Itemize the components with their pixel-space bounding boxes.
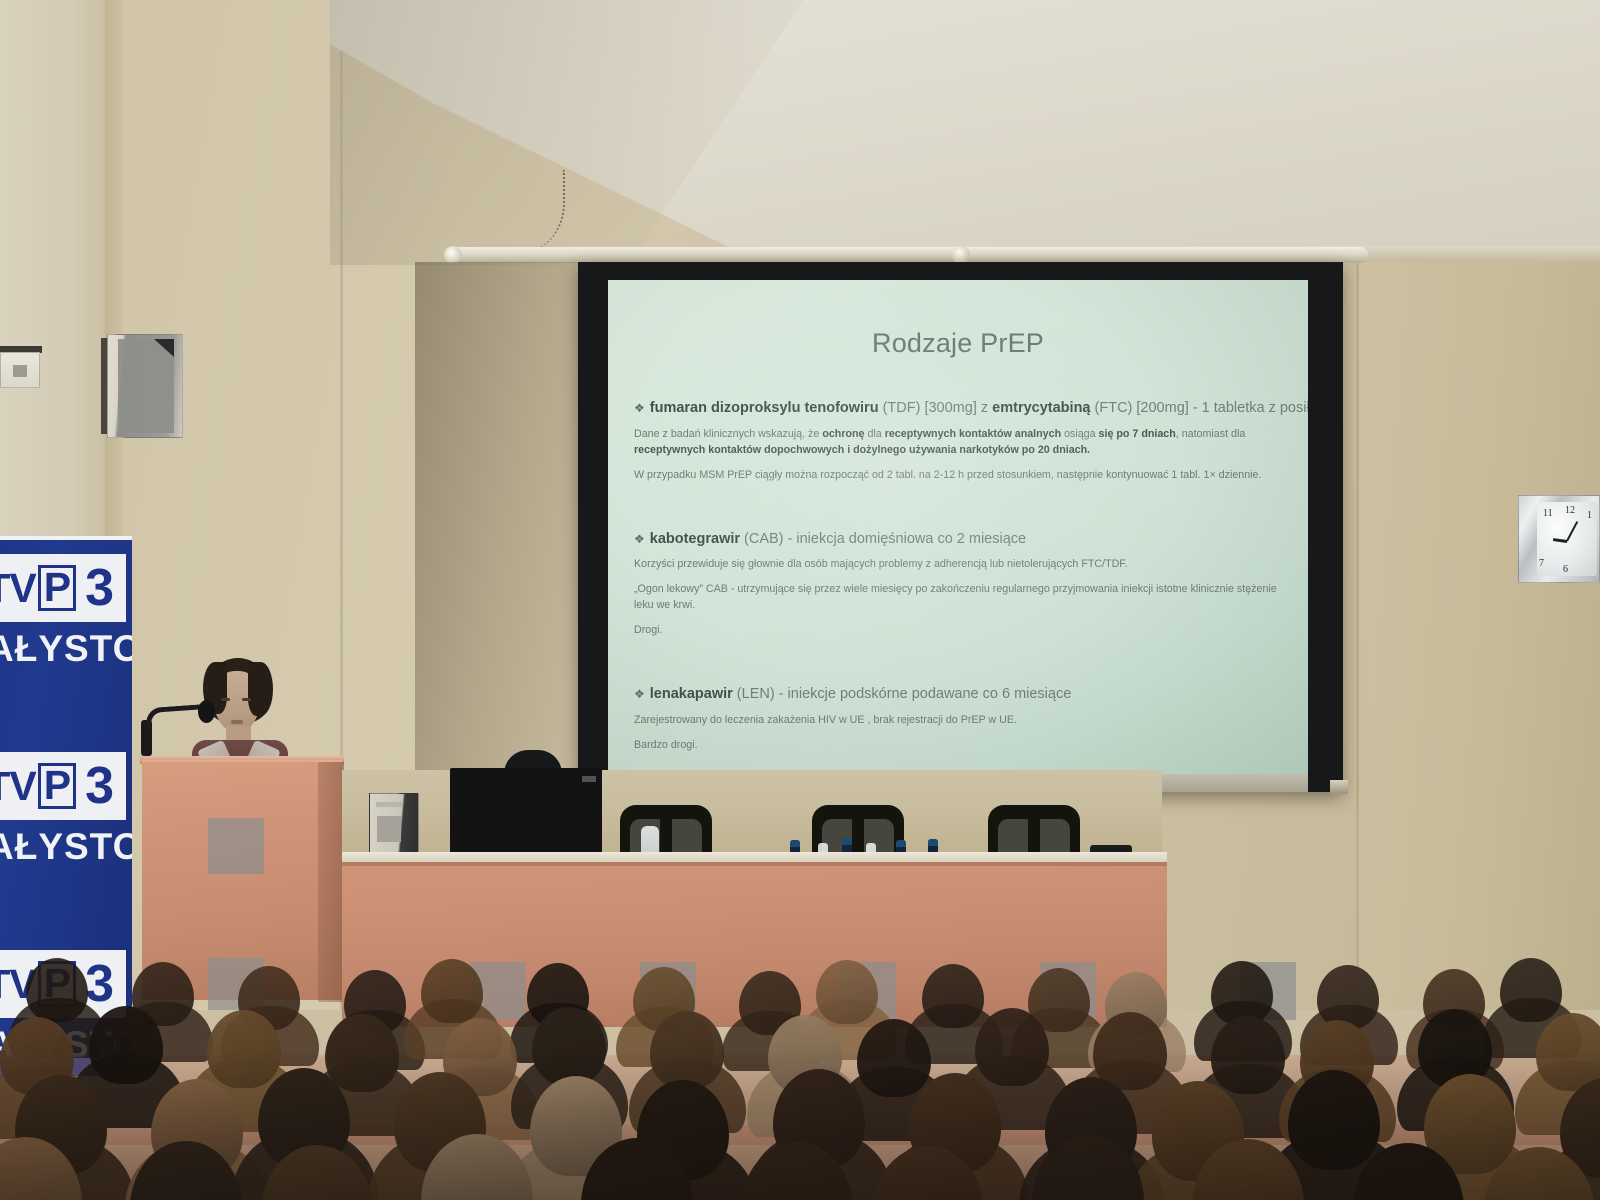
clock-number-11: 11 <box>1543 508 1553 519</box>
lecture-hall-scene: 11 12 1 7 6 Rodzaje PrEP ❖fumaran dizopr… <box>0 0 1600 1200</box>
audience-person-head <box>325 1014 399 1092</box>
audience-person-head <box>816 960 878 1024</box>
bullet-heading-segment: (CAB) - iniekcja domięśniowa co 2 miesią… <box>740 531 1026 547</box>
body-text-segment: Bardzo drogi. <box>634 739 698 751</box>
body-text-segment: W przypadku MSM PrEP ciągły można rozpoc… <box>634 469 1261 481</box>
body-text-segment: Korzyści przewiduje się głownie dla osób… <box>634 558 1128 570</box>
tvp-logo-box-2: TVP 3 <box>0 752 126 820</box>
body-text-segment: Dane z badań klinicznych wskazują, że <box>634 428 822 440</box>
bullet-diamond-icon: ❖ <box>634 401 645 415</box>
bullet-heading-segment: (LEN) - iniekcje podskórne podawane co 6… <box>733 686 1072 702</box>
presenter-eye-left <box>221 698 230 701</box>
audience-person-head <box>421 959 483 1023</box>
body-text-segment: Drogi. <box>634 624 663 636</box>
microphone-head <box>198 700 215 723</box>
bullet-heading-segment: emtrycytabiną <box>992 400 1090 416</box>
body-text-segment: , natomiast dla <box>1176 428 1246 440</box>
clock-face: 11 12 1 7 6 <box>1537 502 1597 576</box>
slide-bullet-heading-1: ❖fumaran dizoproksylu tenofowiru (TDF) [… <box>634 399 1282 419</box>
tvp-logo-number-2: 3 <box>85 763 114 810</box>
body-text-segment: się po 7 dniach <box>1099 428 1176 440</box>
slide-bullet-1: ❖fumaran dizoproksylu tenofowiru (TDF) [… <box>634 399 1282 514</box>
audience-person-head <box>26 958 88 1022</box>
audience-person-head <box>532 1007 606 1085</box>
slide-body-paragraph-2-1: Korzyści przewiduje się głownie dla osób… <box>634 556 1282 572</box>
projected-slide-surface: Rodzaje PrEP ❖fumaran dizoproksylu tenof… <box>608 280 1308 774</box>
slide-bullet-list: ❖fumaran dizoproksylu tenofowiru (TDF) [… <box>634 399 1282 774</box>
audience-person-head <box>1288 1070 1380 1170</box>
presenter-eye-right <box>242 698 251 701</box>
body-text-segment: receptywnych kontaktów dopochwowych i do… <box>634 444 1090 456</box>
tvp-logo-text-1: TVP <box>0 565 76 612</box>
tvp-logo-tv-1: TV <box>0 565 36 612</box>
tvp-logo-tv-2: TV <box>0 763 36 810</box>
presenter-hair-right <box>248 662 273 716</box>
body-text-segment: dla <box>865 428 885 440</box>
audience-person-head <box>975 1008 1049 1086</box>
audience-person-head <box>650 1011 724 1089</box>
body-text-segment: ochronę <box>822 428 864 440</box>
clock-hour-hand <box>1553 538 1567 543</box>
wall-clock: 11 12 1 7 6 <box>1518 495 1600 583</box>
clock-number-6: 6 <box>1563 564 1568 575</box>
bullet-diamond-icon: ❖ <box>634 687 645 701</box>
slide-bullet-heading-2: ❖kabotegrawir (CAB) - iniekcja domięśnio… <box>634 530 1282 550</box>
bullet-heading-segment: fumaran dizoproksylu tenofowiru <box>650 400 879 416</box>
slide-title: Rodzaje PrEP <box>634 328 1282 359</box>
screen-roller-casing <box>448 247 1368 263</box>
tvp-logo-p-2: P <box>38 763 76 808</box>
bullet-diamond-icon: ❖ <box>634 532 645 546</box>
wall-plate-marking <box>13 365 27 377</box>
slide-body-paragraph-1-1: Dane z badań klinicznych wskazują, że oc… <box>634 426 1282 458</box>
slide-body-paragraph-2-2: „Ogon lekowy” CAB - utrzymujące się prze… <box>634 581 1282 613</box>
banner-city-2: BIAŁYSTOK <box>0 826 126 868</box>
slide-body-paragraph-2-3: Drogi. <box>634 622 1282 638</box>
presenter-mouth <box>231 720 243 724</box>
tvp-logo-text-2: TVP <box>0 763 76 810</box>
clock-number-12: 12 <box>1565 505 1575 516</box>
clock-number-1: 1 <box>1587 510 1592 521</box>
screen-cast-shadow <box>415 262 590 780</box>
banner-city-1: BIAŁYSTOK <box>0 628 126 670</box>
desk-front-seam <box>342 862 1167 866</box>
audience-person-head <box>1211 1016 1285 1094</box>
body-text-segment: receptywnych kontaktów analnych <box>885 428 1061 440</box>
clock-number-7: 7 <box>1539 558 1544 569</box>
audience-person-head <box>857 1019 931 1097</box>
bullet-heading-segment: (TDF) [300mg] z <box>879 400 993 416</box>
audience-person-head <box>1317 965 1379 1029</box>
speaker-grille <box>118 339 174 433</box>
clock-minute-hand <box>1566 521 1578 541</box>
audience-person-head <box>1093 1012 1167 1090</box>
slide-bullet-3: ❖lenakapawir (LEN) - iniekcje podskórne … <box>634 685 1282 774</box>
screen-bottom-bar-handle <box>1330 780 1348 794</box>
audience-person-head <box>1500 958 1562 1022</box>
audience-person-head <box>89 1006 163 1084</box>
wall-speaker <box>107 334 183 438</box>
projection-screen: Rodzaje PrEP ❖fumaran dizoproksylu tenof… <box>578 262 1343 792</box>
monitor-badge <box>582 776 596 782</box>
tvp-logo-p-1: P <box>38 565 76 610</box>
tvp-logo-box-1: TVP 3 <box>0 554 126 622</box>
audience-person-head <box>922 964 984 1028</box>
stage-chair-1 <box>620 805 712 857</box>
slide-bullet-2: ❖kabotegrawir (CAB) - iniekcja domięśnio… <box>634 530 1282 670</box>
audience-person-head <box>1211 961 1273 1025</box>
wall-mounted-plate <box>0 352 40 388</box>
bullet-heading-segment: lenakapawir <box>650 686 733 702</box>
computer-tower <box>369 793 419 855</box>
body-text-segment: „Ogon lekowy” CAB - utrzymujące się prze… <box>634 583 1277 611</box>
slide-body-paragraph-3-2: Bardzo drogi. <box>634 737 1282 753</box>
bullet-spacer <box>634 647 1282 669</box>
body-text-segment: Zarejestrowany do leczenia zakażenia HIV… <box>634 714 1017 726</box>
tvp-logo-number-1: 3 <box>85 565 114 612</box>
slide-body-paragraph-1-2: W przypadku MSM PrEP ciągły można rozpoc… <box>634 467 1282 483</box>
presentation-slide: Rodzaje PrEP ❖fumaran dizoproksylu tenof… <box>608 280 1308 774</box>
black-monitor <box>450 768 602 856</box>
bullet-spacer <box>634 492 1282 514</box>
podium-acoustic-panel-upper <box>208 818 264 874</box>
tower-drive-slot <box>376 802 402 807</box>
tower-drive-bay <box>377 816 401 842</box>
stage-chair-3 <box>988 805 1080 857</box>
slide-bullet-heading-3: ❖lenakapawir (LEN) - iniekcje podskórne … <box>634 685 1282 705</box>
body-text-segment: osiąga <box>1061 428 1098 440</box>
bullet-heading-segment: kabotegrawir <box>650 531 740 547</box>
bullet-heading-segment: (FTC) [200mg] - 1 tabletka z posiłkiem. <box>1091 400 1309 416</box>
audience-person-head <box>207 1010 281 1088</box>
audience <box>0 955 1600 1200</box>
slide-body-paragraph-3-1: Zarejestrowany do leczenia zakażenia HIV… <box>634 712 1282 728</box>
